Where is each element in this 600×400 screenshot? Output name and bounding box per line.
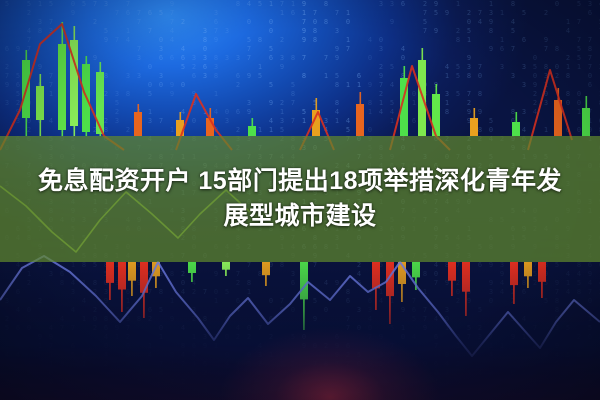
candlestick	[372, 262, 380, 288]
candlestick	[262, 262, 270, 275]
candlestick	[512, 122, 520, 136]
candlestick	[582, 108, 590, 136]
candlestick	[58, 44, 66, 130]
banner-image: 5 6 2 7 9 3 8 0 7 5 6 0 3 2 5 4 2 5 9 5 …	[0, 0, 600, 400]
candlestick	[470, 118, 478, 136]
candlestick	[538, 262, 546, 282]
candlestick	[356, 104, 364, 136]
candlestick	[524, 262, 532, 276]
candlestick	[128, 262, 136, 281]
candlestick	[188, 262, 196, 273]
candlestick	[448, 262, 456, 281]
caption-line-1: 免息配资开户 15部门提出18项举措深化青年发	[38, 167, 562, 196]
candlestick	[412, 262, 420, 277]
candlestick	[36, 86, 44, 120]
candlestick	[96, 72, 104, 134]
caption-line-2: 展型城市建设	[223, 202, 376, 231]
candlestick	[248, 126, 256, 136]
caption-text-block: 免息配资开户 15部门提出18项举措深化青年发 展型城市建设	[0, 136, 600, 262]
candlestick	[106, 262, 114, 283]
upper-candlestick-group	[22, 22, 590, 136]
candlestick	[140, 262, 148, 293]
candlestick	[118, 262, 126, 290]
candlestick	[222, 262, 230, 270]
candlestick	[462, 262, 470, 292]
candlestick	[300, 262, 308, 299]
candlestick	[510, 262, 518, 285]
candlestick	[134, 112, 142, 136]
